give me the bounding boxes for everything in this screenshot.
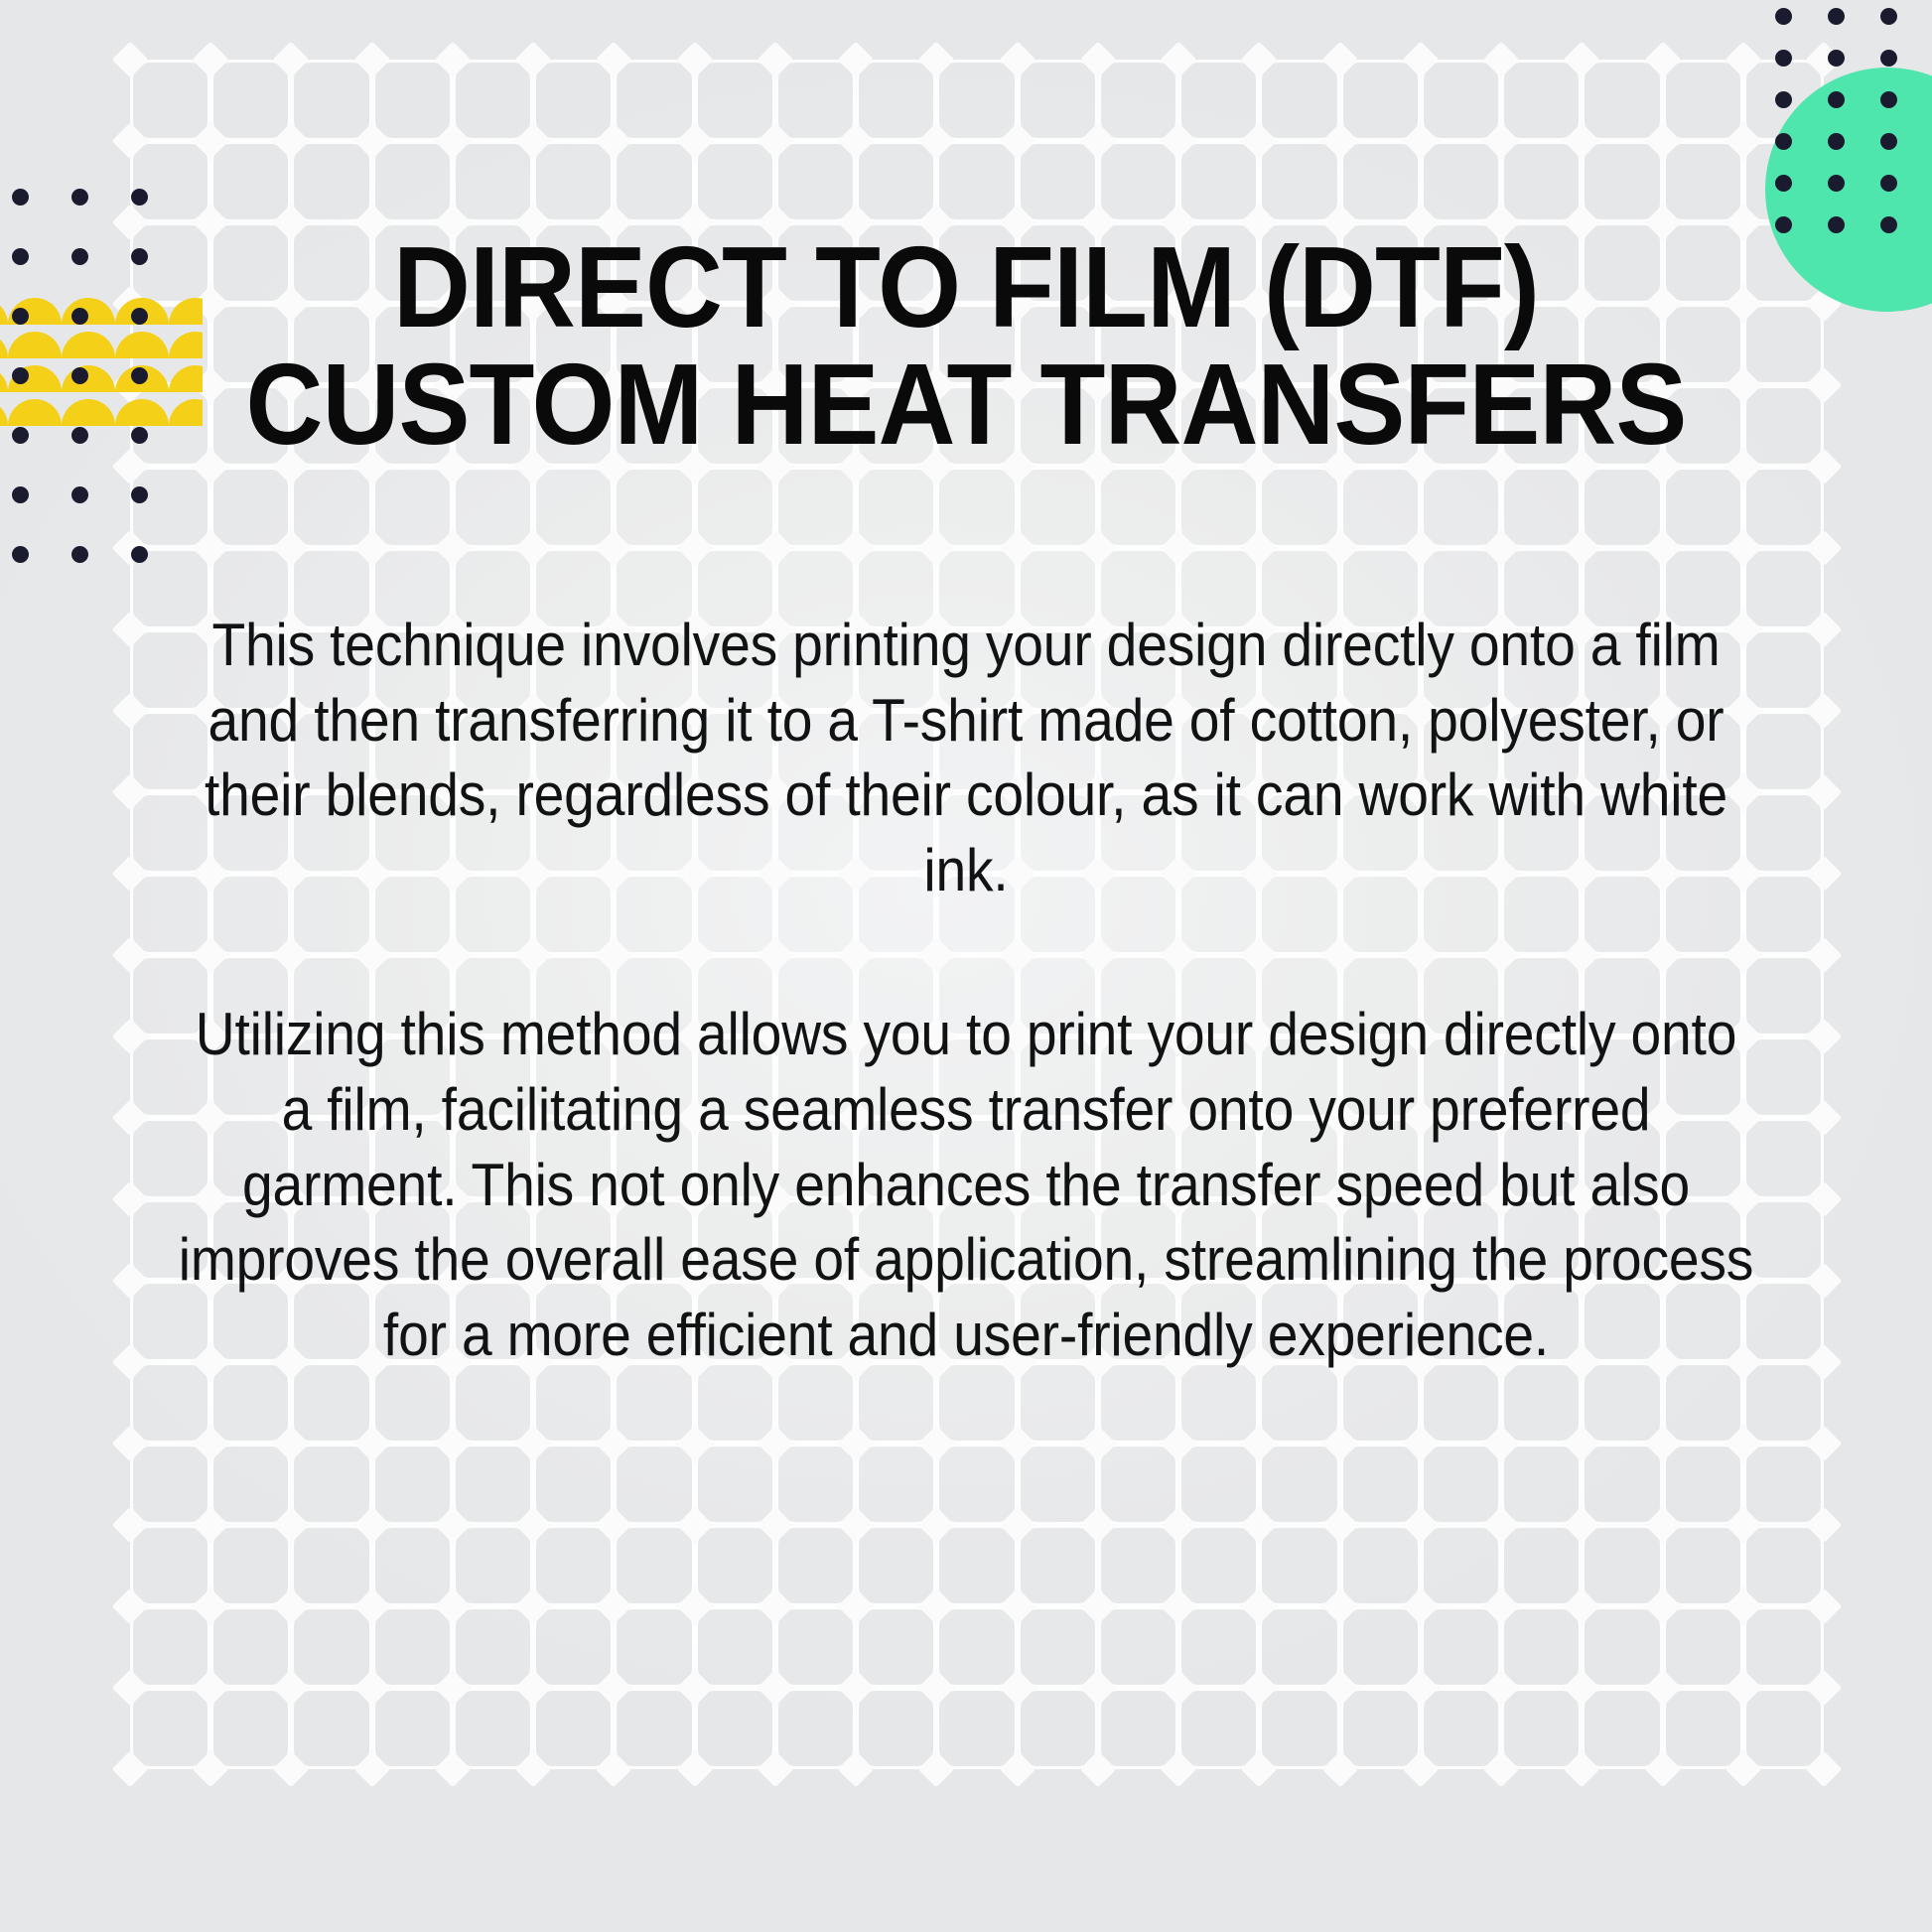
paragraph-2: Utilizing this method allows you to prin… xyxy=(178,997,1754,1372)
title-line-1: DIRECT TO FILM (DTF) xyxy=(179,228,1754,345)
paragraph-1: This technique involves printing your de… xyxy=(178,608,1754,907)
body-copy: This technique involves printing your de… xyxy=(109,608,1823,1372)
poster-content: DIRECT TO FILM (DTF) CUSTOM HEAT TRANSFE… xyxy=(0,0,1932,1932)
page-title: DIRECT TO FILM (DTF) CUSTOM HEAT TRANSFE… xyxy=(68,228,1864,464)
poster-canvas: DIRECT TO FILM (DTF) CUSTOM HEAT TRANSFE… xyxy=(0,0,1932,1932)
title-line-2: CUSTOM HEAT TRANSFERS xyxy=(179,345,1754,463)
